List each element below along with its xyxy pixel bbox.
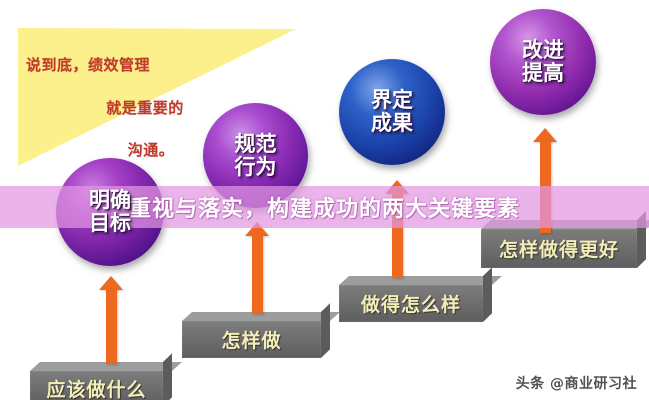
- box-side-face: [483, 267, 492, 322]
- arrow-stem: [252, 235, 263, 314]
- up-arrow-icon: [99, 276, 123, 364]
- sphere-label-line-1: 改进: [522, 39, 564, 62]
- quote-line-1: 说到底，绩效管理: [16, 55, 256, 76]
- box-label: 应该做什么: [30, 371, 163, 400]
- box-side-face: [321, 303, 330, 358]
- box-top-face: [339, 276, 502, 285]
- sphere-label-line-2: 提高: [522, 62, 564, 85]
- arrow-head: [99, 276, 123, 290]
- sphere-improve-and-elevate: 改进 提高: [490, 9, 596, 115]
- sphere-label-line-2: 成果: [371, 112, 413, 135]
- sphere-label-line-2: 目标: [89, 212, 131, 235]
- poster-canvas: 说到底，绩效管理 就是重要的 沟通。 应该做什么 怎样做 做得怎么样 怎样做得更…: [0, 0, 649, 400]
- headline-text: 重视与落实，构建成功的两大关键要素: [129, 191, 520, 223]
- box-label: 怎样做得更好: [481, 229, 637, 268]
- watermark-text: 头条 @商业研习社: [516, 373, 637, 393]
- step-box-how-did-it-go: 做得怎么样: [339, 276, 492, 322]
- sphere-label-line-2: 行为: [235, 156, 277, 179]
- box-label: 怎样做: [182, 321, 321, 358]
- sphere-label-line-1: 界定: [371, 89, 413, 112]
- box-side-face: [163, 353, 172, 400]
- sphere-define-results: 界定 成果: [339, 59, 445, 165]
- step-box-how-to-do: 怎样做: [182, 312, 330, 358]
- arrow-stem: [106, 289, 117, 364]
- box-label: 做得怎么样: [339, 285, 483, 322]
- up-arrow-icon: [245, 222, 269, 314]
- step-box-should-do-what: 应该做什么: [30, 362, 172, 400]
- sphere-label-line-1: 明确: [89, 189, 131, 212]
- arrow-head: [533, 128, 557, 142]
- sphere-label-line-1: 规范: [235, 133, 277, 156]
